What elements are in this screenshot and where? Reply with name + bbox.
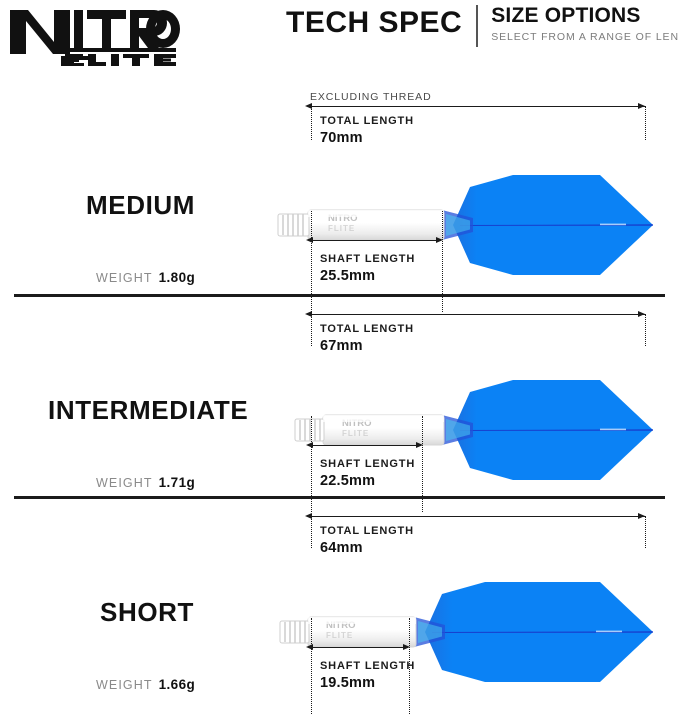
- shaft-length-arrow-left: [306, 442, 313, 448]
- weight-intermediate: WEIGHT1.71g: [96, 475, 195, 490]
- total-length-extension-left: [311, 106, 312, 140]
- total-length-extension-right: [645, 516, 646, 548]
- shaft-length-arrow-right: [416, 442, 423, 448]
- spec-row-medium: EXCLUDING THREAD TOTAL LENGTH 70mm: [0, 72, 679, 297]
- total-length-dimension-line: [312, 106, 645, 107]
- page-title: TECH SPEC: [286, 4, 476, 42]
- weight-short: WEIGHT1.66g: [96, 677, 195, 692]
- total-length-extension-right: [645, 314, 646, 346]
- total-length-callout: TOTAL LENGTH 70mm: [320, 114, 414, 148]
- total-length-dimension-line: [312, 516, 645, 517]
- shaft-length-label: SHAFT LENGTH: [320, 252, 415, 267]
- size-name-medium: MEDIUM: [86, 190, 195, 221]
- size-options-title: SIZE OPTIONS: [491, 4, 679, 28]
- total-length-arrow-right: [638, 311, 645, 317]
- shaft-length-value: 19.5mm: [320, 674, 415, 693]
- shaft-length-label: SHAFT LENGTH: [320, 659, 415, 674]
- shaft-length-arrow-left: [306, 644, 313, 650]
- shaft-length-extension-right: [422, 416, 423, 512]
- shaft-length-dimension-line: [313, 240, 441, 241]
- page-header: TECH SPEC SIZE OPTIONS SELECT FROM A RAN…: [0, 0, 679, 72]
- tech-spec-sheet: TECH SPEC SIZE OPTIONS SELECT FROM A RAN…: [0, 0, 679, 699]
- shaft-print-sub: FLITE: [328, 224, 355, 233]
- weight-value: 1.71g: [159, 475, 196, 490]
- shaft-length-callout: SHAFT LENGTH 19.5mm: [320, 659, 415, 693]
- total-length-value: 64mm: [320, 539, 414, 558]
- header-subtitle-group: SIZE OPTIONS SELECT FROM A RANGE OF LENG…: [478, 4, 679, 44]
- shaft-length-extension-left: [311, 618, 312, 714]
- weight-label: WEIGHT: [96, 476, 153, 490]
- weight-label: WEIGHT: [96, 271, 153, 285]
- total-length-label: TOTAL LENGTH: [320, 322, 414, 337]
- spec-row-short: TOTAL LENGTH 64mm: [0, 499, 679, 699]
- total-length-arrow-right: [638, 103, 645, 109]
- total-length-callout: TOTAL LENGTH 67mm: [320, 322, 414, 356]
- total-length-callout: TOTAL LENGTH 64mm: [320, 524, 414, 558]
- shaft-length-extension-left: [311, 416, 312, 512]
- shaft-length-label: SHAFT LENGTH: [320, 457, 415, 472]
- shaft-print-sub: FLITE: [326, 631, 353, 640]
- shaft-length-arrow-right: [403, 644, 410, 650]
- size-name-short: SHORT: [100, 597, 194, 628]
- shaft-length-dimension-line: [313, 445, 421, 446]
- total-length-extension-right: [645, 106, 646, 140]
- total-length-label: TOTAL LENGTH: [320, 114, 414, 129]
- total-length-label: TOTAL LENGTH: [320, 524, 414, 539]
- shaft-print-sub: FLITE: [342, 429, 369, 438]
- total-length-arrow-right: [638, 513, 645, 519]
- header-title-group: TECH SPEC SIZE OPTIONS SELECT FROM A RAN…: [286, 4, 679, 60]
- shaft-length-dimension-line: [313, 647, 408, 648]
- size-options-subtitle: SELECT FROM A RANGE OF LENGTHS: [491, 30, 679, 44]
- weight-medium: WEIGHT1.80g: [96, 270, 195, 285]
- size-name-intermediate: INTERMEDIATE: [48, 395, 248, 426]
- total-length-extension-left: [311, 516, 312, 548]
- shaft-length-arrow-right: [436, 237, 443, 243]
- shaft-length-callout: SHAFT LENGTH 25.5mm: [320, 252, 415, 286]
- weight-label: WEIGHT: [96, 678, 153, 692]
- excluding-thread-label: EXCLUDING THREAD: [310, 91, 432, 103]
- total-length-value: 70mm: [320, 129, 414, 148]
- total-length-value: 67mm: [320, 337, 414, 356]
- spec-row-intermediate: TOTAL LENGTH 67mm: [0, 297, 679, 499]
- shaft-length-arrow-left: [306, 237, 313, 243]
- shaft-length-callout: SHAFT LENGTH 22.5mm: [320, 457, 415, 491]
- total-length-extension-left: [311, 314, 312, 346]
- total-length-dimension-line: [312, 314, 645, 315]
- shaft-length-value: 22.5mm: [320, 472, 415, 491]
- weight-value: 1.66g: [159, 677, 196, 692]
- weight-value: 1.80g: [159, 270, 196, 285]
- shaft-length-value: 25.5mm: [320, 267, 415, 286]
- nitro-flite-logo: [8, 4, 183, 66]
